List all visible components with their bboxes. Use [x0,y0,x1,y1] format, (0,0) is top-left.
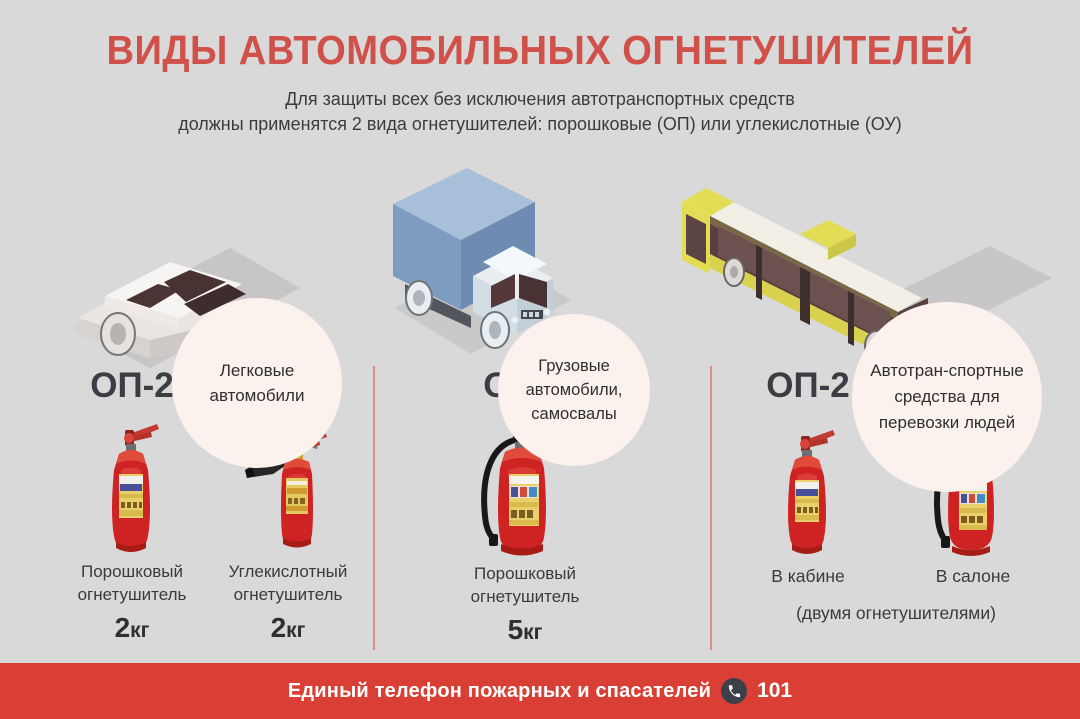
desc-line-2: огнетушитель [420,585,630,608]
callout-text-cars: Легковые автомобили [172,358,342,408]
desc-line-1: Порошковый [420,562,630,585]
callout-bubble-buses: Автотран-спортные средства для перевозки… [852,302,1042,492]
subtitle-line-1: Для защиты всех без исключения автотранс… [285,88,794,109]
buses-note: (двумя огнетушителями) [712,603,1080,624]
desc-line-2: огнетушитель [203,583,373,606]
weight-value: 2 [115,612,131,643]
powder-extinguisher-icon [52,412,212,560]
weight-value: 5 [508,614,524,645]
extinguisher-description: Порошковый огнетушитель [420,562,630,608]
callout-bubble-cars: Легковые автомобили [172,298,342,468]
emergency-phone-number: 101 [757,679,792,703]
weight-unit: кг [286,619,305,642]
callout-text-trucks: Грузовые автомобили, самосвалы [498,354,650,426]
section-divider-1 [373,366,375,650]
vehicles-scene: Легковые автомобили Грузовые автомобили,… [0,140,1080,370]
extinguisher-weight: 2кг [52,610,212,649]
desc-line-1: Углекислотный [203,560,373,583]
extinguisher-description: Углекислотный огнетушитель [203,560,373,606]
extinguisher-weight: 5кг [420,612,630,651]
extinguisher-weight: 2кг [203,610,373,649]
callout-bubble-trucks: Грузовые автомобили, самосвалы [498,314,650,466]
footer-text: Единый телефон пожарных и спасателей [288,680,711,703]
desc-line-1: Порошковый [52,560,212,583]
phone-icon [721,678,747,704]
desc-line-2: огнетушитель [52,583,212,606]
weight-value: 2 [271,612,287,643]
subtitle-line-2: должны применятся 2 вида огнетушителей: … [16,111,1064,136]
emergency-footer-bar: Единый телефон пожарных и спасателей 101 [0,663,1080,719]
placement-label: В салоне [888,564,1058,588]
callout-text-buses: Автотран-спортные средства для перевозки… [852,358,1042,436]
infographic-poster: ВИДЫ АВТОМОБИЛЬНЫХ ОГНЕТУШИТЕЛЕЙ Для защ… [0,0,1080,719]
placement-label: В кабине [728,564,888,588]
page-title: ВИДЫ АВТОМОБИЛЬНЫХ ОГНЕТУШИТЕЛЕЙ [38,26,1042,74]
page-subtitle: Для защиты всех без исключения автотранс… [16,86,1064,136]
weight-unit: кг [523,621,542,644]
weight-unit: кг [130,619,149,642]
extinguisher-description: Порошковый огнетушитель [52,560,212,606]
